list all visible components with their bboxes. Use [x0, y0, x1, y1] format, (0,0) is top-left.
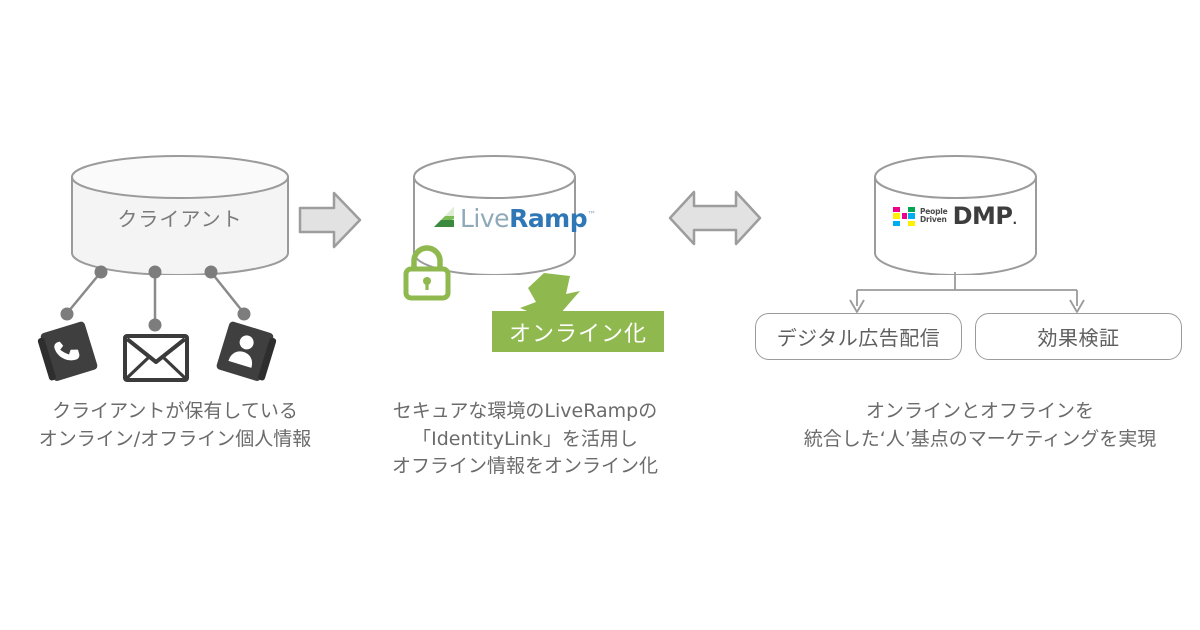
outcome-box-effect-verification[interactable]: 効果検証: [975, 313, 1182, 360]
address-book-icon: [208, 320, 280, 382]
dmp-swatch-8: [908, 221, 915, 226]
dmp-swatch-2: [908, 207, 915, 212]
liveramp-logo-text: LiveRamp™: [460, 206, 596, 231]
client-cylinder: クライアント: [70, 155, 290, 275]
dmp-wordmark-text: DMP: [953, 202, 1013, 230]
dmp-wordmark-period: .: [1012, 213, 1016, 227]
client-caption-line-2: オンライン/オフライン個人情報: [0, 426, 350, 454]
liveramp-caption: セキュアな環境のLiveRampの 「IdentityLink」を活用し オフラ…: [355, 398, 695, 481]
phone-book-icon: [34, 320, 106, 382]
client-caption-line-1: クライアントが保有している: [0, 398, 350, 426]
liveramp-sail-mark: [432, 205, 458, 231]
liveramp-caption-line-3: オフライン情報をオンライン化: [355, 453, 695, 481]
dmp-caption: オンラインとオフラインを 統合した‘人’基点のマーケティングを実現: [760, 398, 1200, 453]
liveramp-logo: LiveRamp™: [432, 205, 596, 231]
liveramp-caption-line-2: 「IdentityLink」を活用し: [355, 426, 695, 454]
dmp-logo-wordmark: DMP.: [953, 204, 1017, 228]
dmp-caption-line-1: オンラインとオフラインを: [760, 398, 1200, 426]
outcome-box-digital-ad-delivery[interactable]: デジタル広告配信: [755, 313, 962, 360]
dmp-swatch-7: [902, 221, 907, 226]
liveramp-word-ramp: Ramp: [509, 204, 587, 233]
client-cylinder-label: クライアント: [70, 203, 290, 232]
dmp-swatch-4: [902, 213, 907, 219]
padlock-icon: [398, 243, 456, 305]
dmp-logo-tagline: People Driven: [920, 208, 948, 224]
arrow-right-client-to-liveramp: [294, 184, 366, 256]
dmp-swatch-0: [893, 207, 900, 212]
client-caption: クライアントが保有している オンライン/オフライン個人情報: [0, 398, 350, 453]
dmp-swatch-3: [893, 213, 900, 219]
online-conversion-badge-label: オンライン化: [509, 316, 647, 348]
online-conversion-badge: オンライン化: [492, 311, 664, 352]
dmp-swatch-5: [908, 213, 915, 219]
dmp-logo-swatch-grid: [893, 207, 915, 226]
liveramp-trademark: ™: [587, 210, 596, 220]
diagram-canvas: クライアント: [0, 0, 1200, 630]
outcome-box-digital-ad-delivery-label: デジタル広告配信: [777, 322, 941, 351]
dmp-swatch-6: [893, 221, 900, 226]
outcome-box-effect-verification-label: 効果検証: [1038, 322, 1120, 351]
dmp-swatch-1: [902, 207, 907, 212]
dmp-tagline-line-2: Driven: [920, 216, 948, 224]
envelope-icon: [122, 332, 190, 384]
arrow-bidirectional-liveramp-to-dmp: [666, 180, 764, 256]
dmp-logo: People Driven DMP.: [893, 204, 1017, 228]
liveramp-word-live: Live: [460, 204, 509, 233]
dmp-caption-line-2: 統合した‘人’基点のマーケティングを実現: [760, 426, 1200, 454]
liveramp-caption-line-1: セキュアな環境のLiveRampの: [355, 398, 695, 426]
